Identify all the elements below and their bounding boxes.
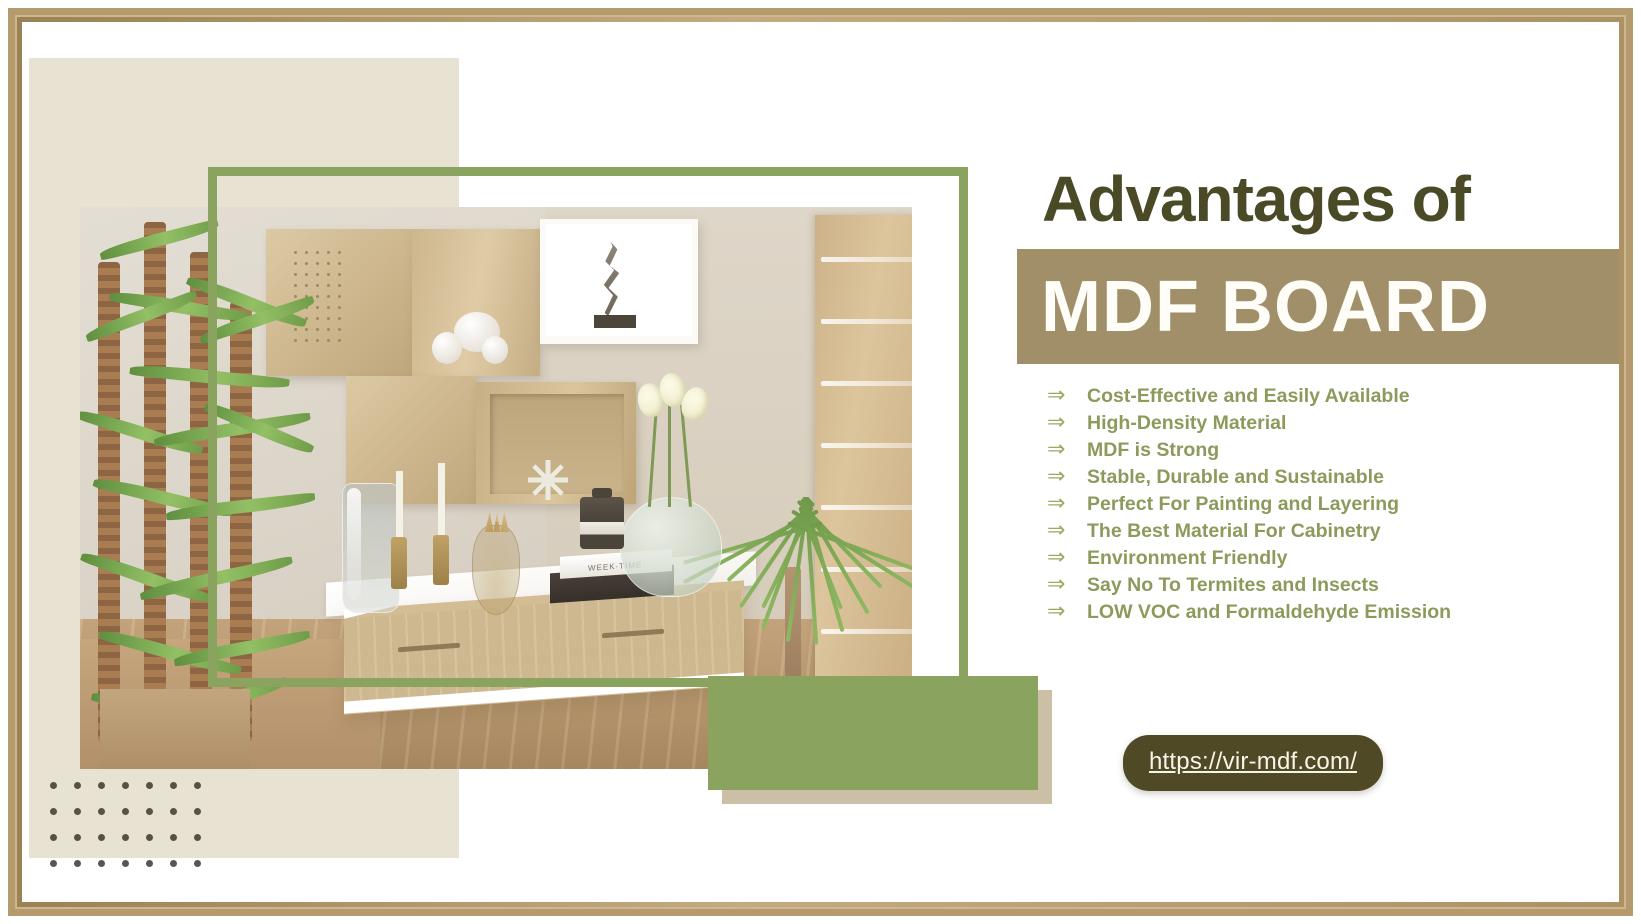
ceramic-canister [580, 497, 624, 549]
poster-canvas: WEEK·TIME [22, 22, 1619, 902]
list-item: ⇒ Stable, Durable and Sustainable [1047, 465, 1619, 492]
list-item: ⇒ LOW VOC and Formaldehyde Emission [1047, 600, 1619, 627]
double-arrow-icon: ⇒ [1047, 519, 1073, 541]
list-item: ⇒ MDF is Strong [1047, 438, 1619, 465]
list-item: ⇒ Perfect For Painting and Layering [1047, 492, 1619, 519]
double-arrow-icon: ⇒ [1047, 546, 1073, 568]
list-item: ⇒ Cost-Effective and Easily Available [1047, 384, 1619, 411]
double-arrow-icon: ⇒ [1047, 492, 1073, 514]
list-item: ⇒ Environment Friendly [1047, 546, 1619, 573]
list-item: ⇒ Say No To Termites and Insects [1047, 573, 1619, 600]
outer-gold-frame: WEEK·TIME [8, 8, 1633, 916]
list-item-label: The Best Material For Cabinetry [1087, 520, 1381, 543]
abstract-sculpture [592, 240, 638, 328]
wall-shelf-open-box [476, 382, 636, 504]
content-column: Advantages of MDF BOARD ⇒ Cost-Effective… [1017, 22, 1619, 902]
list-item-label: LOW VOC and Formaldehyde Emission [1087, 601, 1451, 624]
double-arrow-icon: ⇒ [1047, 465, 1073, 487]
list-item: ⇒ High-Density Material [1047, 411, 1619, 438]
list-item: ⇒ The Best Material For Cabinetry [1047, 519, 1619, 546]
wire-pineapple-ornament [472, 525, 520, 615]
double-arrow-icon: ⇒ [1047, 438, 1073, 460]
list-item-label: MDF is Strong [1087, 439, 1219, 462]
double-arrow-icon: ⇒ [1047, 600, 1073, 622]
round-glass-vase [620, 497, 722, 597]
double-arrow-icon: ⇒ [1047, 573, 1073, 595]
title-band: MDF BOARD [1017, 249, 1619, 364]
candlestick-right [433, 535, 449, 585]
dot-grid-decoration [50, 782, 218, 886]
ponytail-palm-crown [712, 497, 892, 697]
list-item-label: Environment Friendly [1087, 547, 1287, 570]
list-item-label: Perfect For Painting and Layering [1087, 493, 1399, 516]
star-ornament [528, 460, 568, 500]
foreground-plant-pot [100, 689, 250, 769]
website-url-pill[interactable]: https://vir-mdf.com/ [1123, 735, 1383, 791]
foreground-palm-plant [80, 207, 325, 769]
poster-root: WEEK·TIME [0, 0, 1641, 924]
page-kicker: Advantages of [1042, 162, 1470, 236]
advantages-list: ⇒ Cost-Effective and Easily Available ⇒ … [1047, 384, 1619, 627]
list-item-label: Cost-Effective and Easily Available [1087, 385, 1410, 408]
candle-left [396, 471, 403, 539]
candle-right [438, 463, 445, 537]
list-item-label: High-Density Material [1087, 412, 1286, 435]
double-arrow-icon: ⇒ [1047, 384, 1073, 406]
ceramic-ornaments [426, 310, 526, 368]
list-item-label: Stable, Durable and Sustainable [1087, 466, 1384, 489]
double-arrow-icon: ⇒ [1047, 411, 1073, 433]
calla-lily-flowers [616, 377, 726, 507]
green-accent-block [708, 676, 1038, 790]
list-item-label: Say No To Termites and Insects [1087, 574, 1379, 597]
candlestick-left [391, 537, 407, 589]
wall-shelf-niche [412, 229, 540, 376]
wall-shelf-white [540, 219, 698, 344]
page-title: MDF BOARD [1017, 266, 1490, 348]
